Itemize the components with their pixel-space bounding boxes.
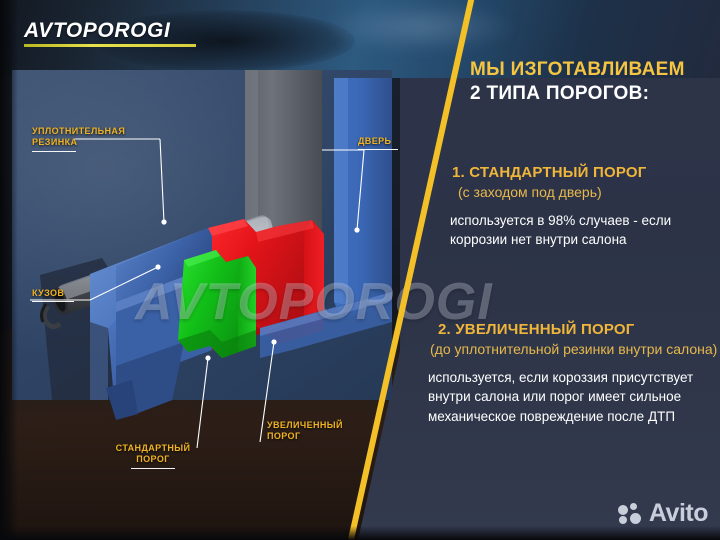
label-standard-sill-line2: ПОРОГ [136, 454, 169, 464]
label-seal-rubber-line2: РЕЗИНКА [32, 137, 77, 147]
label-door-line1: ДВЕРЬ [358, 136, 391, 146]
label-standard-sill-line1: СТАНДАРТНЫЙ [116, 443, 191, 453]
label-body: КУЗОВ [32, 288, 92, 302]
avito-watermark: Avito [618, 501, 708, 526]
sill-diagram: УПЛОТНИТЕЛЬНАЯ РЕЗИНКА ДВЕРЬ КУЗОВ СТАНД… [12, 70, 392, 400]
headline-line-2: 2 ТИПА ПОРОГОВ: [470, 82, 720, 106]
label-seal-rubber-rule [32, 151, 76, 152]
standard-sill-shape [162, 250, 260, 374]
label-door-rule [358, 149, 398, 150]
section-extended-sill: 2. УВЕЛИЧЕННЫЙ ПОРОГ (до уплотнительной … [400, 320, 720, 426]
label-extended-sill: УВЕЛИЧЕННЫЙ ПОРОГ [267, 420, 363, 443]
section-1-title: 1. СТАНДАРТНЫЙ ПОРОГ [400, 163, 720, 183]
avito-dots-icon [618, 503, 644, 525]
headline: МЫ ИЗГОТАВЛИВАЕМ 2 ТИПА ПОРОГОВ: [470, 58, 720, 106]
section-2-subtitle: (до уплотнительной резинки внутри салона… [400, 340, 720, 358]
avito-wordmark: Avito [649, 501, 708, 526]
label-extended-sill-line2: ПОРОГ [267, 431, 300, 441]
label-seal-rubber-line1: УПЛОТНИТЕЛЬНАЯ [32, 126, 125, 136]
brand-logo-underline [24, 44, 196, 47]
headline-line-1: МЫ ИЗГОТАВЛИВАЕМ [470, 58, 720, 82]
section-standard-sill: 1. СТАНДАРТНЫЙ ПОРОГ (с заходом под двер… [400, 163, 720, 250]
label-standard-sill-rule [131, 468, 175, 469]
label-extended-sill-line1: УВЕЛИЧЕННЫЙ [267, 420, 343, 430]
label-body-rule [32, 301, 74, 302]
brand-logo-text: AVTOPOROGI [24, 20, 196, 41]
label-standard-sill: СТАНДАРТНЫЙ ПОРОГ [105, 443, 201, 469]
brand-logo: AVTOPOROGI [24, 20, 196, 47]
infographic-canvas: AVTOPOROGI [0, 0, 720, 540]
section-1-subtitle: (с заходом под дверь) [400, 183, 720, 201]
label-seal-rubber: УПЛОТНИТЕЛЬНАЯ РЕЗИНКА [32, 126, 124, 152]
section-2-body: используется, если короззия присутствует… [400, 368, 720, 427]
label-body-line1: КУЗОВ [32, 288, 64, 298]
section-1-body: используется в 98% случаев - если корроз… [400, 211, 720, 250]
section-2-title: 2. УВЕЛИЧЕННЫЙ ПОРОГ [400, 320, 720, 340]
text-column: МЫ ИЗГОТАВЛИВАЕМ 2 ТИПА ПОРОГОВ: 1. СТАН… [400, 0, 720, 540]
